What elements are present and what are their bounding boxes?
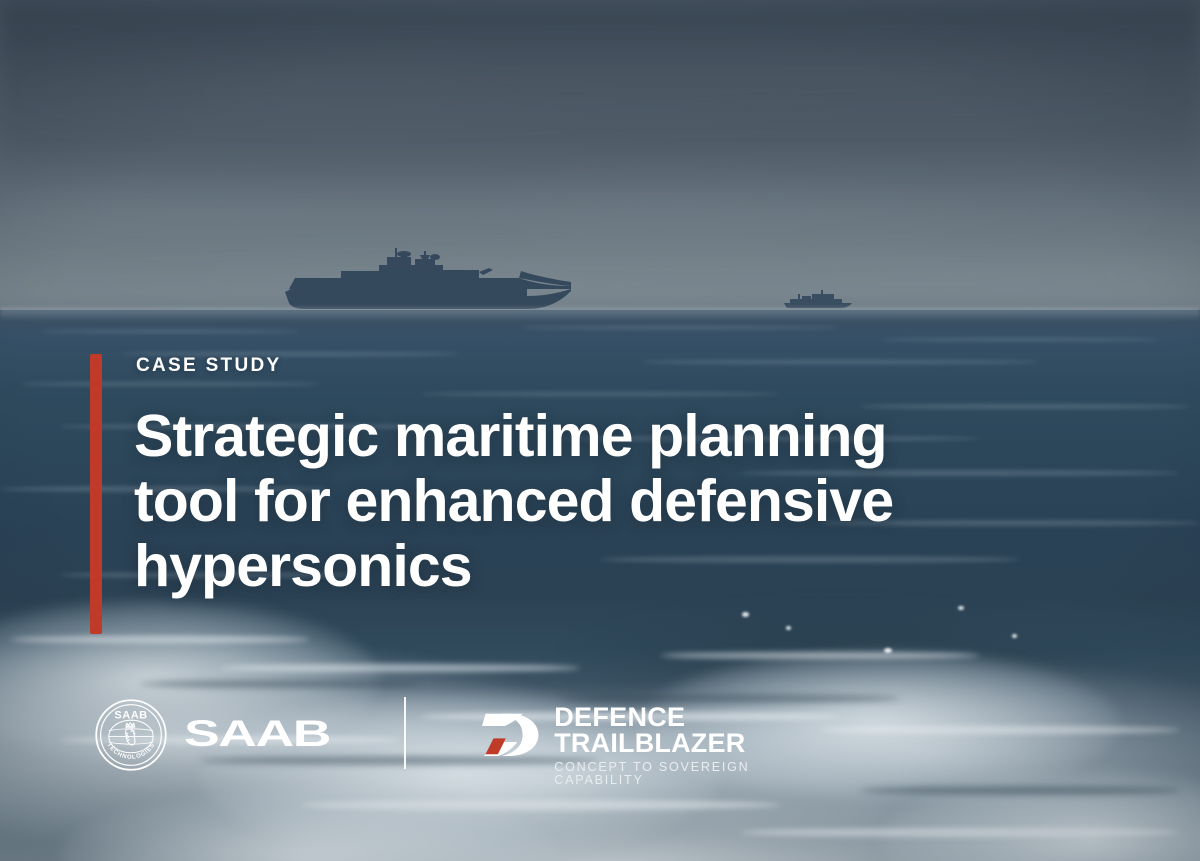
headline-line-1: Strategic maritime planning (134, 404, 1094, 469)
logo-divider (404, 697, 406, 769)
red-accent-bar (90, 354, 102, 634)
horizon-line (0, 308, 1200, 320)
defence-trailblazer-mark-icon (482, 703, 540, 765)
spray-droplet (884, 648, 892, 653)
foam-streak (820, 726, 1180, 734)
foam-streak (220, 664, 580, 672)
spray-droplet (1012, 634, 1017, 638)
foam-shadow-streak (860, 786, 1180, 795)
defence-trailblazer-logo: DEFENCE TRAILBLAZER CONCEPT TO SOVEREIGN… (482, 703, 810, 787)
spray-droplet (958, 606, 964, 610)
naval-vessel-large-icon (283, 245, 573, 313)
foam-shadow-streak (140, 680, 420, 688)
foam-streak (660, 652, 980, 659)
foam-streak (740, 828, 1180, 837)
foam-streak (300, 800, 780, 810)
wave-line (40, 330, 300, 333)
dt-line-2: TRAILBLAZER (554, 730, 810, 756)
eyebrow-label: CASE STUDY (136, 356, 281, 375)
wave-line (20, 382, 320, 386)
sky-haze (0, 0, 1200, 200)
page-title: Strategic maritime planning tool for enh… (134, 404, 1094, 600)
wave-line (880, 338, 1160, 341)
logo-lockup-row: SAAB TECHNOLOGIES SAAB (90, 690, 810, 785)
dt-line-1: DEFENCE (554, 704, 810, 730)
svg-text:SAAB: SAAB (114, 710, 147, 722)
dt-tagline: CONCEPT TO SOVEREIGN CAPABILITY (554, 761, 810, 786)
svg-text:SAAB: SAAB (184, 714, 330, 754)
saab-logo: SAAB TECHNOLOGIES SAAB (94, 698, 332, 772)
headline-line-2: tool for enhanced defensive (134, 469, 1094, 534)
spray-droplet (786, 626, 791, 630)
wave-line (640, 360, 1040, 364)
headline-line-3: hypersonics (134, 534, 1094, 599)
naval-vessel-small-icon (782, 289, 854, 309)
saab-roundel-icon: SAAB TECHNOLOGIES (94, 698, 168, 772)
spray-droplet (742, 612, 749, 617)
case-study-cover: CASE STUDY Strategic maritime planning t… (0, 0, 1200, 861)
wave-line (420, 392, 780, 396)
foam-streak (10, 636, 310, 643)
defence-trailblazer-text: DEFENCE TRAILBLAZER CONCEPT TO SOVEREIGN… (554, 703, 810, 787)
saab-wordmark: SAAB (184, 714, 332, 756)
wave-line (520, 326, 840, 329)
